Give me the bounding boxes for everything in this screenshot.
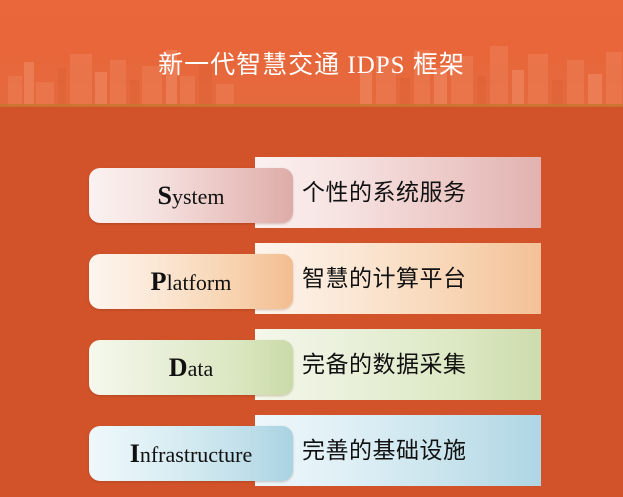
- layer-label-text: Data: [89, 340, 293, 395]
- layer-label-pill[interactable]: Infrastructure: [89, 426, 293, 481]
- description-panel: 个性的系统服务: [255, 157, 541, 228]
- description-panel: 智慧的计算平台: [255, 243, 541, 314]
- layer-label-text: System: [89, 168, 293, 223]
- layer-label-pill[interactable]: System: [89, 168, 293, 223]
- header-band: 新一代智慧交通 IDPS 框架: [0, 0, 623, 106]
- framework-row-platform[interactable]: 智慧的计算平台 Platform: [0, 237, 623, 323]
- layer-label-rest: latform: [167, 270, 232, 295]
- layer-label-rest: nfrastructure: [140, 442, 252, 467]
- description-panel: 完备的数据采集: [255, 329, 541, 400]
- page-title: 新一代智慧交通 IDPS 框架: [0, 49, 623, 83]
- layer-label-pill[interactable]: Data: [89, 340, 293, 395]
- description-panel: 完善的基础设施: [255, 415, 541, 486]
- description-text: 智慧的计算平台: [302, 243, 467, 314]
- layer-label-initial: P: [151, 267, 167, 296]
- layer-label-rest: ata: [188, 356, 214, 381]
- layer-label-text: Platform: [89, 254, 293, 309]
- layer-label-initial: D: [169, 353, 188, 382]
- framework-row-infrastructure[interactable]: 完善的基础设施 Infrastructure: [0, 409, 623, 495]
- framework-rows: 个性的系统服务 System 智慧的计算平台 Platform 完备的数据采集 …: [0, 106, 623, 497]
- slide-canvas: 新一代智慧交通 IDPS 框架 个性的系统服务 System 智慧的计算平台 P…: [0, 0, 623, 497]
- framework-row-data[interactable]: 完备的数据采集 Data: [0, 323, 623, 409]
- layer-label-initial: S: [157, 181, 171, 210]
- layer-label-initial: I: [130, 439, 140, 468]
- description-text: 个性的系统服务: [302, 157, 467, 228]
- layer-label-rest: ystem: [172, 184, 225, 209]
- layer-label-pill[interactable]: Platform: [89, 254, 293, 309]
- description-text: 完善的基础设施: [302, 415, 467, 486]
- description-text: 完备的数据采集: [302, 329, 467, 400]
- framework-row-system[interactable]: 个性的系统服务 System: [0, 151, 623, 237]
- layer-label-text: Infrastructure: [89, 426, 293, 481]
